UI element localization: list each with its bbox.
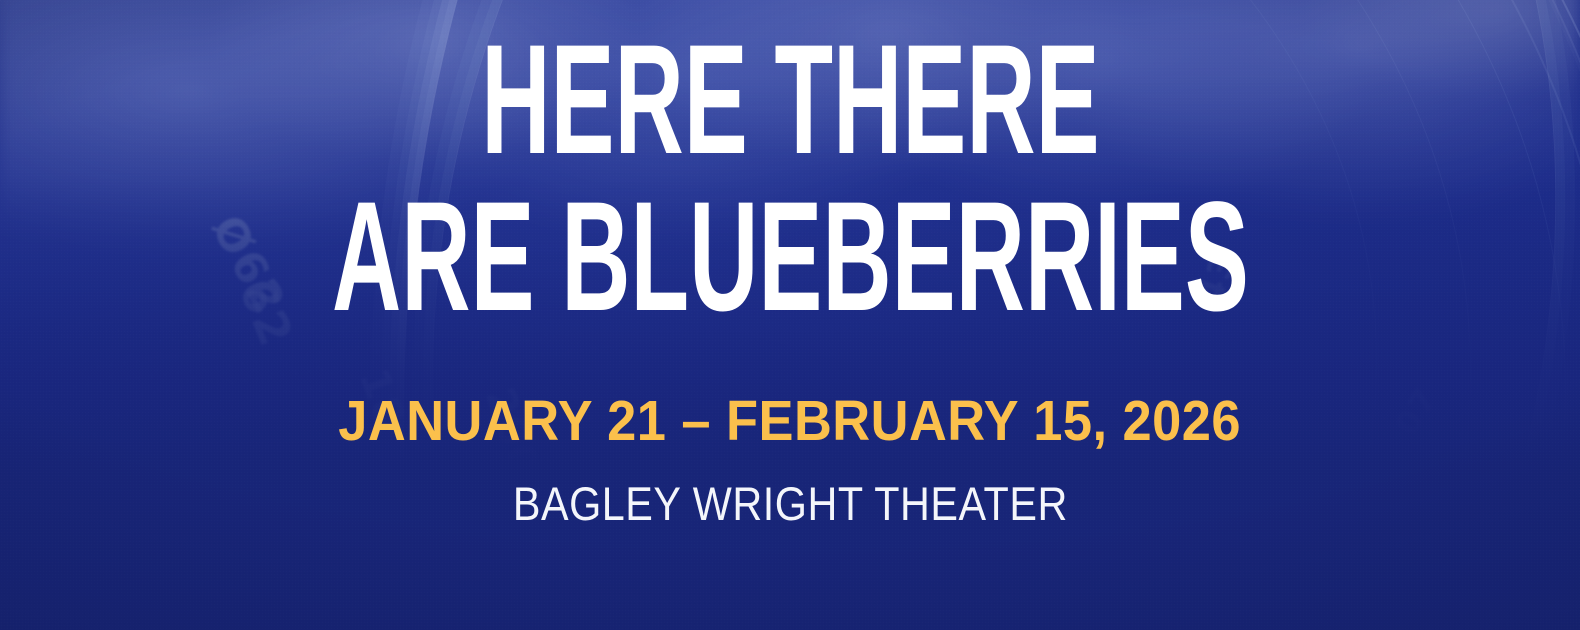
banner-content: HERE THERE ARE BLUEBERRIES JANUARY 21 – … xyxy=(0,0,1580,630)
show-title: HERE THERE ARE BLUEBERRIES xyxy=(45,0,1536,330)
show-title-line-1: HERE THERE xyxy=(332,28,1249,173)
show-title-line-2: ARE BLUEBERRIES xyxy=(332,185,1249,330)
show-dates: JANUARY 21 – FEBRUARY 15, 2026 xyxy=(339,388,1242,454)
production-hero-banner: Ø62 62 18 200m m 43 5 07 HERE THERE ARE … xyxy=(0,0,1580,630)
show-venue: BAGLEY WRIGHT THEATER xyxy=(512,476,1067,531)
